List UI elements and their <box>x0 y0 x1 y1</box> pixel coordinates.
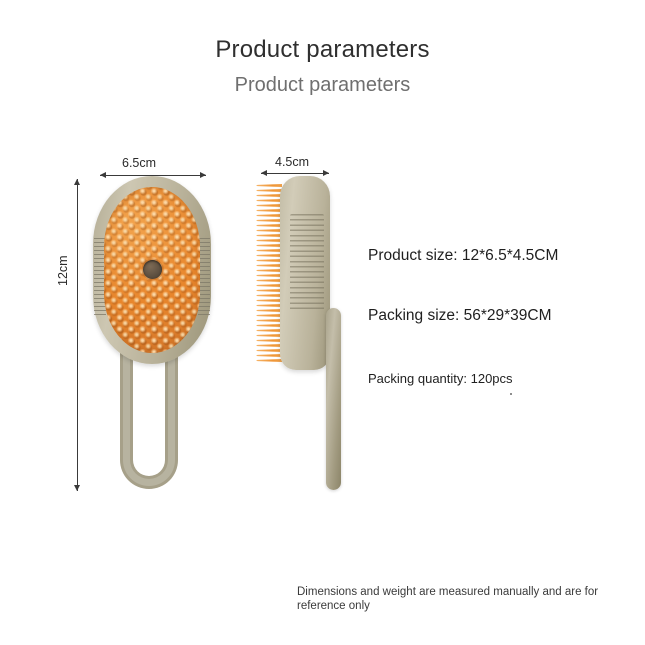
bristle <box>256 194 282 197</box>
dimension-label-front-width: 6.5cm <box>122 156 156 170</box>
bristle <box>256 314 282 317</box>
bristle <box>256 199 282 202</box>
bristle <box>256 354 282 357</box>
bristle <box>256 284 282 287</box>
steam-outlet-hole <box>143 260 162 279</box>
bristle <box>256 244 282 247</box>
bristle <box>256 289 282 292</box>
dimension-label-height: 12cm <box>56 255 70 286</box>
bristle <box>256 229 282 232</box>
bristle <box>256 344 282 347</box>
side-handle-bar <box>326 308 341 490</box>
bristle <box>256 184 282 187</box>
bristle <box>256 269 282 272</box>
bristle <box>256 319 282 322</box>
side-comb-ridges <box>290 214 324 312</box>
bristle <box>256 254 282 257</box>
bristle <box>256 249 282 252</box>
spec-artifact-dot <box>510 393 512 395</box>
page-subtitle: Product parameters <box>0 74 645 97</box>
bristle <box>256 209 282 212</box>
product-parameters-page: Product parameters Product parameters 6.… <box>0 0 645 645</box>
side-body-shell <box>280 176 330 370</box>
bristle <box>256 264 282 267</box>
bristle <box>256 304 282 307</box>
bristle <box>256 309 282 312</box>
bristle <box>256 259 282 262</box>
bristle <box>256 189 282 192</box>
bristle <box>256 214 282 217</box>
spec-packing-quantity: Packing quantity: 120pcs <box>368 371 513 386</box>
spec-packing-size: Packing size: 56*29*39CM <box>368 307 552 325</box>
dimension-line-side-width <box>261 173 329 174</box>
bristle <box>256 224 282 227</box>
front-body-shell <box>93 176 211 364</box>
bristle <box>256 329 282 332</box>
bristle <box>256 359 282 362</box>
bristle <box>256 279 282 282</box>
bristle <box>256 219 282 222</box>
spec-product-size: Product size: 12*6.5*4.5CM <box>368 247 558 265</box>
bristle <box>256 339 282 342</box>
bristle <box>256 294 282 297</box>
dimension-label-side-width: 4.5cm <box>275 155 309 169</box>
bristle <box>256 204 282 207</box>
bristle <box>256 299 282 302</box>
side-bristle-row <box>256 184 282 366</box>
bristle <box>256 234 282 237</box>
bristle <box>256 239 282 242</box>
bristle <box>256 334 282 337</box>
front-silicone-pad <box>104 187 200 353</box>
page-title: Product parameters <box>0 36 645 64</box>
footnote-disclaimer: Dimensions and weight are measured manua… <box>297 585 619 613</box>
dimension-line-height <box>77 179 78 491</box>
bristle <box>256 274 282 277</box>
bristle <box>256 324 282 327</box>
bristle <box>256 349 282 352</box>
